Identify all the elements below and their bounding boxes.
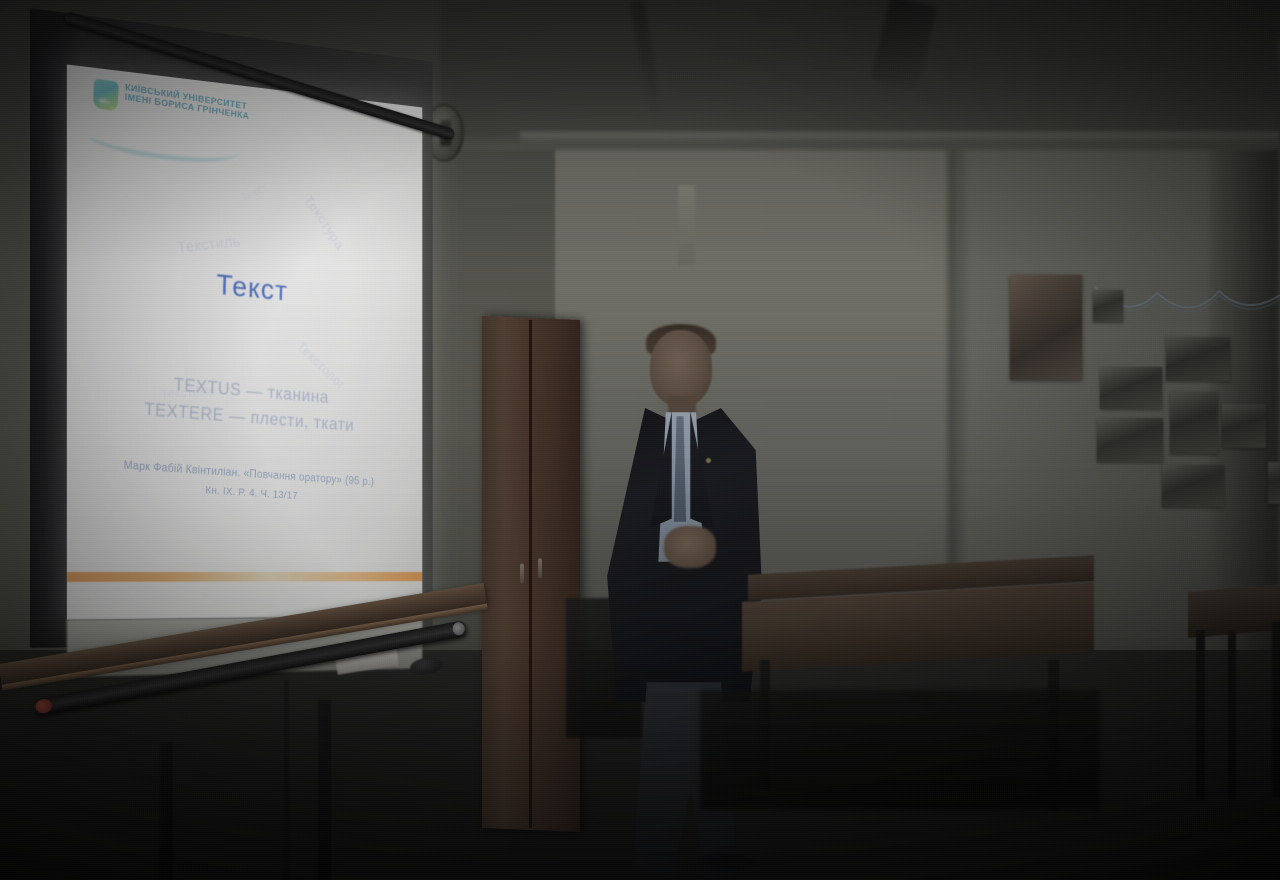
wall-photo [1100, 367, 1162, 409]
wall-notice-slip [678, 185, 695, 265]
presenter-shoe [702, 854, 754, 870]
bench-shadow [700, 690, 1100, 810]
wall-photo [1162, 465, 1224, 507]
table-leg [318, 700, 331, 880]
projection-screen: КИЇВСЬКИЙ УНІВЕРСИТЕТ ІМЕНІ БОРИСА ГРІНЧ… [30, 8, 490, 668]
screen-bar-end-cap [452, 621, 466, 636]
wall-photo [1222, 404, 1266, 448]
desk-leg [1272, 622, 1280, 797]
desk-leg [1228, 632, 1236, 800]
desk-leg [1196, 630, 1205, 800]
cabinet-door-split [529, 320, 532, 828]
watermark-word: Текст [239, 180, 270, 204]
lecture-hall-photo: КИЇВСЬКИЙ УНІВЕРСИТЕТ ІМЕНІ БОРИСА ГРІНЧ… [0, 0, 1280, 880]
grinchenko-university-emblem-icon [93, 78, 119, 111]
university-logo-text: КИЇВСЬКИЙ УНІВЕРСИТЕТ ІМЕНІ БОРИСА ГРІНЧ… [125, 83, 250, 122]
cabinet-handle[interactable] [520, 564, 524, 584]
cabinet-handle[interactable] [538, 558, 542, 578]
watermark-word: Текстура [301, 192, 347, 252]
presenter-clasped-hands [664, 526, 716, 568]
slide-definitions: TEXTUS — тканина TEXTERE — плести, ткати [67, 363, 422, 445]
wooden-wardrobe[interactable] [482, 316, 580, 832]
slide-accent-bar [67, 572, 422, 582]
presenter-head [650, 330, 712, 406]
framed-poster [1010, 275, 1082, 380]
slide-citation: Марк Фабій Квінтиліан. «Повчання оратору… [67, 453, 422, 512]
wall-photo [1170, 392, 1218, 454]
ceiling-cornice [520, 132, 1280, 144]
wall-photo [1166, 337, 1230, 381]
table-leg [160, 742, 173, 880]
slide-title: Текст [67, 253, 422, 321]
wall-photo [1093, 290, 1123, 322]
table-support-rod [284, 680, 289, 880]
watermark-word: Текстиль [176, 234, 241, 258]
presenter-lapel-pin [706, 458, 711, 463]
wall-photo [1097, 418, 1163, 462]
wall-photo [1268, 462, 1280, 504]
presentation-slide: КИЇВСЬКИЙ УНІВЕРСИТЕТ ІМЕНІ БОРИСА ГРІНЧ… [67, 64, 422, 619]
screen-bar-end-cap-red [35, 698, 53, 715]
ceiling [440, 0, 1280, 150]
